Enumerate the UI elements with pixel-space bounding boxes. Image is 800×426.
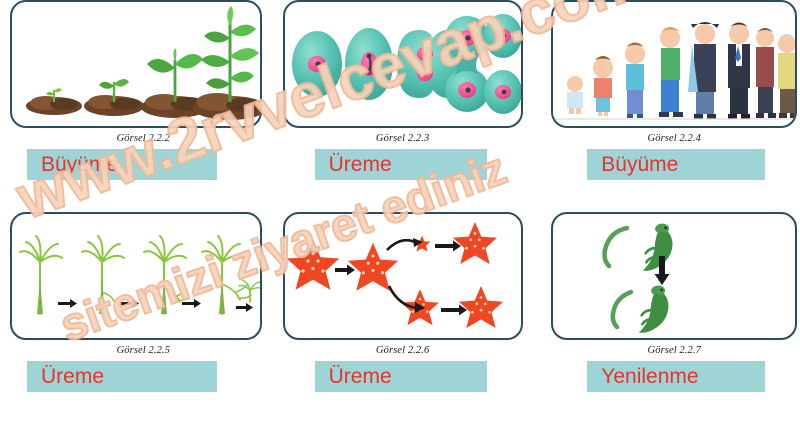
lizard-regenerated — [613, 280, 677, 338]
label-text-lizard-regeneration: Yenilenme — [587, 366, 698, 387]
panel-cell-division-frame — [283, 0, 523, 128]
label-band-starfish-regeneration: Üreme — [315, 361, 487, 392]
caption-human-growth: Görsel 2.2.4 — [551, 133, 797, 144]
cell-division-illustration — [285, 2, 521, 126]
caption-starfish-regeneration: Görsel 2.2.6 — [283, 345, 523, 356]
panel-row-top: Görsel 2.2.2 Büyüme — [0, 0, 800, 200]
panel-hydra-budding-frame — [10, 212, 262, 340]
hydra-budding-illustration — [12, 214, 260, 338]
figure-toddler — [593, 56, 613, 116]
figure-middle-aged — [756, 28, 776, 118]
label-text-starfish-regeneration: Üreme — [315, 366, 392, 387]
figure-child — [625, 43, 645, 119]
label-text-human-growth: Büyüme — [587, 154, 678, 175]
label-band-lizard-regeneration: Yenilenme — [587, 361, 765, 392]
label-text-plant-growth: Büyüme — [27, 154, 118, 175]
figure-adult-coat — [688, 22, 719, 119]
panel-starfish-regeneration-frame — [283, 212, 523, 340]
label-band-hydra-budding: Üreme — [27, 361, 217, 392]
panel-hydra-budding: Görsel 2.2.5 Üreme — [10, 212, 277, 426]
panel-plant-growth: Görsel 2.2.2 Büyüme — [10, 0, 277, 200]
panel-human-growth: Görsel 2.2.4 Büyüme — [551, 0, 800, 200]
figure-teen — [659, 27, 683, 117]
panel-row-bottom: Görsel 2.2.5 Üreme — [0, 212, 800, 426]
caption-plant-growth: Görsel 2.2.2 — [10, 133, 277, 144]
caption-hydra-budding: Görsel 2.2.5 — [10, 345, 277, 356]
caption-cell-division: Görsel 2.2.3 — [283, 133, 523, 144]
arrow-icon — [335, 241, 467, 316]
panel-plant-growth-frame — [10, 0, 262, 128]
label-text-cell-division: Üreme — [315, 154, 392, 175]
lizard-regeneration-illustration — [553, 214, 795, 338]
panel-lizard-regeneration-frame — [551, 212, 797, 340]
human-life-stages-illustration — [553, 2, 795, 126]
panel-cell-division: Görsel 2.2.3 Üreme — [283, 0, 548, 200]
panel-lizard-regeneration: Görsel 2.2.7 Yenilenme — [551, 212, 800, 426]
label-band-plant-growth: Büyüme — [27, 149, 217, 180]
label-band-cell-division: Üreme — [315, 149, 487, 180]
plant-growth-illustration — [12, 2, 260, 126]
figure-elder — [778, 34, 795, 118]
panel-human-growth-frame — [551, 0, 797, 128]
label-text-hydra-budding: Üreme — [27, 366, 104, 387]
caption-lizard-regeneration: Görsel 2.2.7 — [551, 345, 797, 356]
panel-starfish-regeneration: Görsel 2.2.6 Üreme — [283, 212, 548, 426]
curved-arrow-icon — [387, 240, 417, 308]
figure-adult-suit — [728, 23, 750, 120]
starfish-regeneration-illustration — [285, 214, 521, 338]
lizard-detached — [605, 218, 681, 277]
label-band-human-growth: Büyüme — [587, 149, 765, 180]
figure-baby — [567, 76, 583, 114]
worksheet-sheet: Görsel 2.2.2 Büyüme — [0, 0, 800, 426]
